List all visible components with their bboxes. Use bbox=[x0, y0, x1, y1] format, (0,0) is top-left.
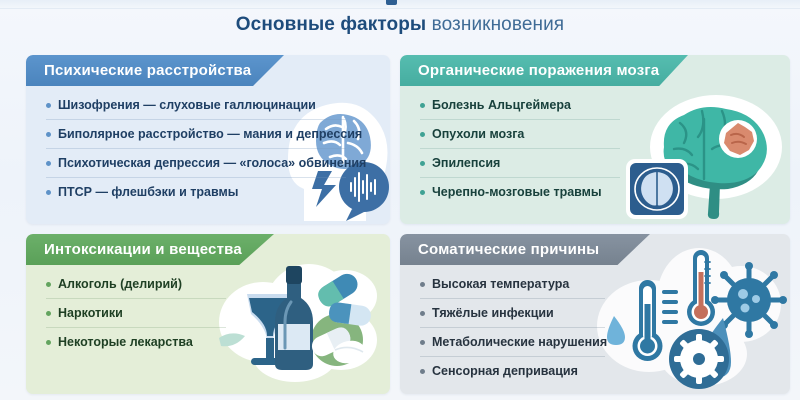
page-title-light: возникновения bbox=[432, 14, 565, 35]
list-item-label: Черепно-мозговые травмы bbox=[432, 186, 602, 199]
card-header-label: Органические поражения мозга bbox=[418, 62, 659, 79]
top-edge-chip-icon bbox=[386, 0, 397, 5]
bullet-icon bbox=[46, 103, 51, 108]
bullet-icon bbox=[46, 132, 51, 137]
card-list-organic-brain-lesions: Болезнь Альцгеймера Опухоли мозга Эпилеп… bbox=[400, 86, 790, 207]
list-item-label: Высокая температура bbox=[432, 278, 569, 291]
bullet-icon bbox=[46, 311, 51, 316]
list-item[interactable]: Биполярное расстройство — мания и депрес… bbox=[26, 120, 390, 149]
list-item-label: Болезнь Альцгеймера bbox=[432, 99, 571, 112]
list-item[interactable]: Эпилепсия bbox=[400, 149, 790, 178]
list-item-label: Шизофрения — слуховые галлюцинации bbox=[58, 99, 316, 112]
list-item[interactable]: Алкоголь (делирий) bbox=[26, 270, 390, 299]
bullet-icon bbox=[420, 282, 425, 287]
list-item-label: Алкоголь (делирий) bbox=[58, 278, 182, 291]
card-somatic-causes[interactable]: Соматические причины bbox=[400, 234, 790, 394]
list-item-label: Психотическая депрессия — «голоса» обвин… bbox=[58, 157, 366, 170]
list-item-label: Опухоли мозга bbox=[432, 128, 524, 141]
card-mental-disorders[interactable]: Психические расстройства bbox=[26, 55, 390, 224]
card-header-somatic-causes: Соматические причины bbox=[400, 234, 790, 265]
card-header-mental-disorders: Психические расстройства bbox=[26, 55, 390, 86]
page-title: Основные факторы возникновения bbox=[0, 14, 800, 36]
list-item-label: ПТСР — флешбэки и травмы bbox=[58, 186, 238, 199]
card-header-organic-brain-lesions: Органические поражения мозга bbox=[400, 55, 790, 86]
bullet-icon bbox=[420, 103, 425, 108]
bullet-icon bbox=[420, 190, 425, 195]
list-item-label: Некоторые лекарства bbox=[58, 336, 193, 349]
bullet-icon bbox=[46, 190, 51, 195]
list-item[interactable]: Болезнь Альцгеймера bbox=[400, 91, 790, 120]
bullet-icon bbox=[420, 132, 425, 137]
card-header-label: Интоксикации и вещества bbox=[44, 241, 242, 258]
list-item[interactable]: Черепно-мозговые травмы bbox=[400, 178, 790, 207]
page-title-strong: Основные факторы bbox=[236, 14, 426, 35]
card-intoxication-substances[interactable]: Интоксикации и вещества bbox=[26, 234, 390, 394]
list-item[interactable]: Опухоли мозга bbox=[400, 120, 790, 149]
card-header-intoxication-substances: Интоксикации и вещества bbox=[26, 234, 390, 265]
bullet-icon bbox=[46, 282, 51, 287]
list-item-label: Эпилепсия bbox=[432, 157, 500, 170]
list-item[interactable]: Тяжёлые инфекции bbox=[400, 299, 790, 328]
card-list-mental-disorders: Шизофрения — слуховые галлюцинации Бипол… bbox=[26, 86, 390, 207]
list-item[interactable]: Сенсорная депривация bbox=[400, 357, 790, 386]
list-item[interactable]: Психотическая депрессия — «голоса» обвин… bbox=[26, 149, 390, 178]
card-list-somatic-causes: Высокая температура Тяжёлые инфекции Мет… bbox=[400, 265, 790, 386]
bullet-icon bbox=[420, 161, 425, 166]
list-item[interactable]: Высокая температура bbox=[400, 270, 790, 299]
list-item[interactable]: ПТСР — флешбэки и травмы bbox=[26, 178, 390, 207]
list-item-label: Сенсорная депривация bbox=[432, 365, 578, 378]
list-item-label: Метаболические нарушения bbox=[432, 336, 607, 349]
bullet-icon bbox=[46, 340, 51, 345]
list-item[interactable]: Наркотики bbox=[26, 299, 390, 328]
top-edge-sliver bbox=[0, 0, 800, 9]
bullet-icon bbox=[420, 340, 425, 345]
list-item-label: Биполярное расстройство — мания и депрес… bbox=[58, 128, 362, 141]
list-item-label: Наркотики bbox=[58, 307, 123, 320]
card-list-intoxication-substances: Алкоголь (делирий) Наркотики Некоторые л… bbox=[26, 265, 390, 357]
list-item-label: Тяжёлые инфекции bbox=[432, 307, 554, 320]
bullet-icon bbox=[46, 161, 51, 166]
bullet-icon bbox=[420, 369, 425, 374]
bullet-icon bbox=[420, 311, 425, 316]
list-item[interactable]: Шизофрения — слуховые галлюцинации bbox=[26, 91, 390, 120]
card-header-label: Психические расстройства bbox=[44, 62, 251, 79]
card-header-label: Соматические причины bbox=[418, 241, 599, 258]
infographic-page: Основные факторы возникновения Психическ… bbox=[0, 0, 800, 400]
list-item[interactable]: Метаболические нарушения bbox=[400, 328, 790, 357]
list-item[interactable]: Некоторые лекарства bbox=[26, 328, 390, 357]
card-organic-brain-lesions[interactable]: Органические поражения мозга bbox=[400, 55, 790, 224]
